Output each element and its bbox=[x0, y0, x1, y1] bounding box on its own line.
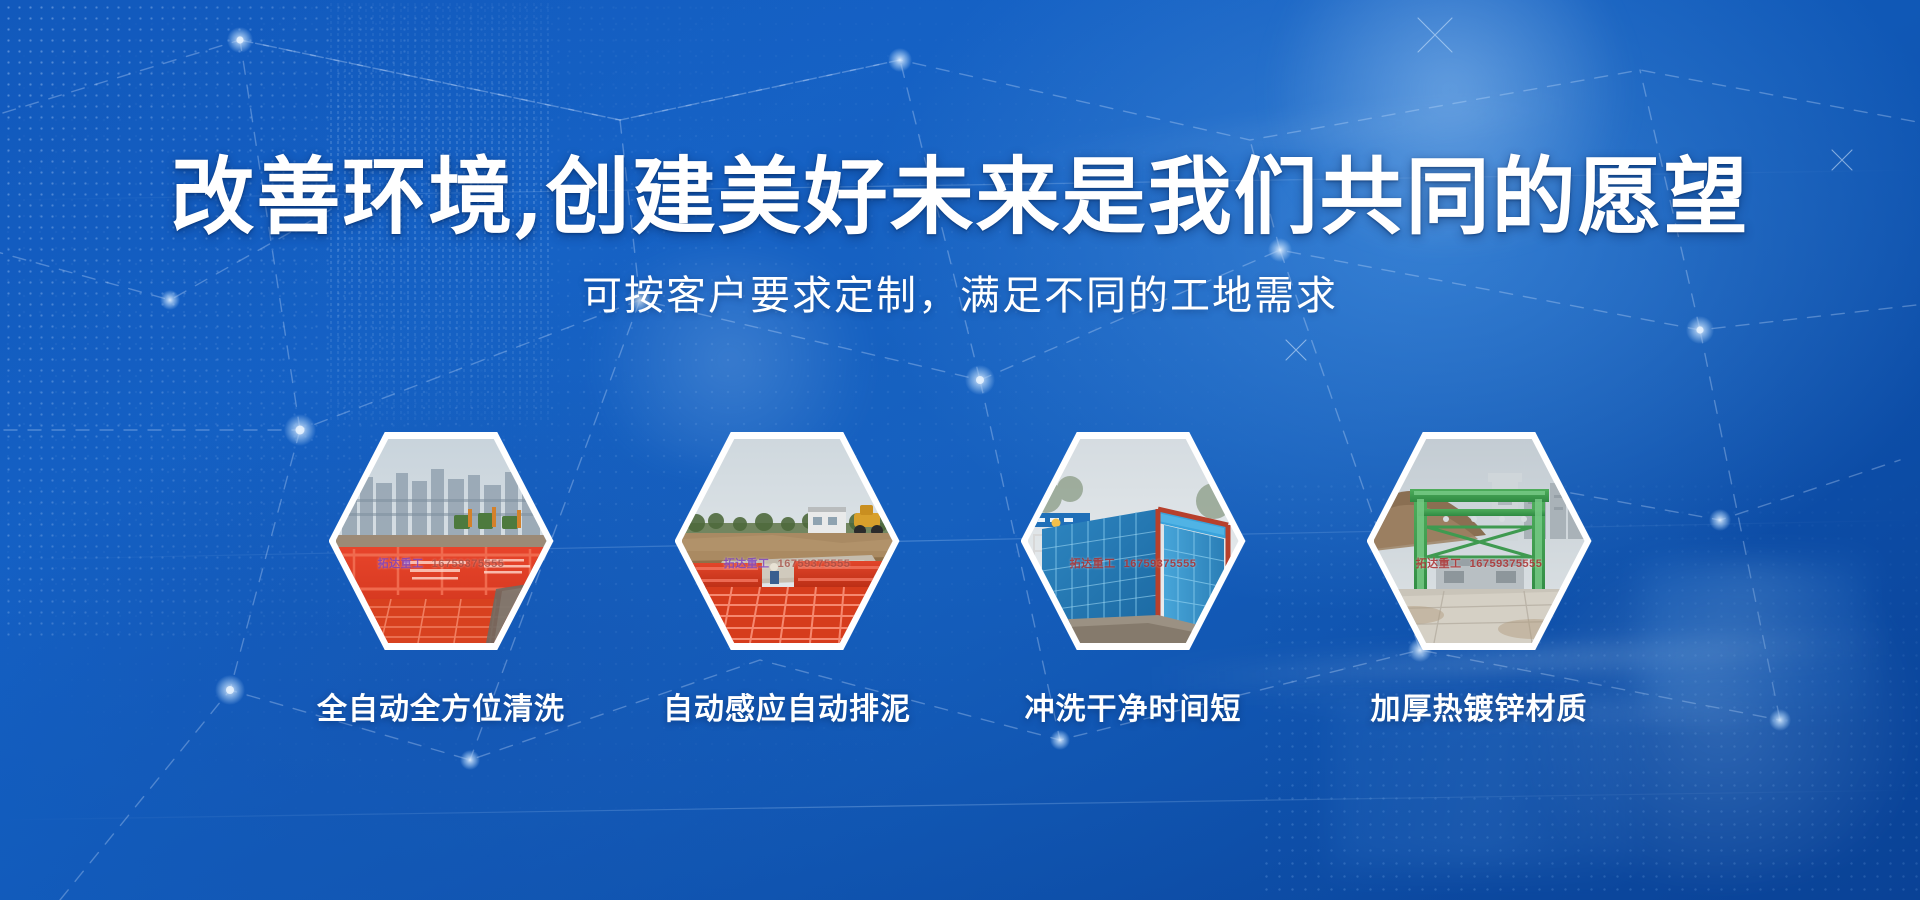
feature-caption-4: 加厚热镀锌材质 bbox=[1371, 684, 1588, 728]
hexagon-frame-1: 拓达重工16759375555 bbox=[329, 432, 554, 650]
feature-item-1[interactable]: 拓达重工16759375555 全自动全方位清洗 bbox=[310, 432, 572, 728]
feature-item-2[interactable]: 拓达重工16759375555 自动感应自动排泥 bbox=[656, 432, 918, 728]
promo-banner: 改善环境,创建美好未来是我们共同的愿望 可按客户要求定制，满足不同的工地需求 bbox=[0, 0, 1920, 900]
page-subtitle: 可按客户要求定制，满足不同的工地需求 bbox=[0, 272, 1920, 320]
page-title: 改善环境,创建美好未来是我们共同的愿望 bbox=[0, 152, 1920, 241]
hexagon-frame-3: 拓达重工16759375555 bbox=[1021, 432, 1246, 650]
hexagon-photo-icon: 拓达重工16759375555 bbox=[682, 439, 893, 643]
feature-list: 拓达重工16759375555 全自动全方位清洗 bbox=[0, 432, 1920, 728]
hexagon-photo-icon: 拓达重工16759375555 bbox=[336, 439, 547, 643]
hexagon-frame-2: 拓达重工16759375555 bbox=[675, 432, 900, 650]
hexagon-photo-icon: 拓达重工16759375555 bbox=[1028, 439, 1239, 643]
feature-item-4[interactable]: 拓达重工16759375555 加厚热镀锌材质 bbox=[1348, 432, 1610, 728]
hexagon-frame-4: 拓达重工16759375555 bbox=[1367, 432, 1592, 650]
hexagon-photo-icon: 拓达重工16759375555 bbox=[1374, 439, 1585, 643]
feature-caption-2: 自动感应自动排泥 bbox=[663, 684, 911, 728]
feature-caption-1: 全自动全方位清洗 bbox=[317, 684, 565, 728]
feature-item-3[interactable]: 拓达重工16759375555 冲洗干净时间短 bbox=[1002, 432, 1264, 728]
feature-caption-3: 冲洗干净时间短 bbox=[1025, 684, 1242, 728]
